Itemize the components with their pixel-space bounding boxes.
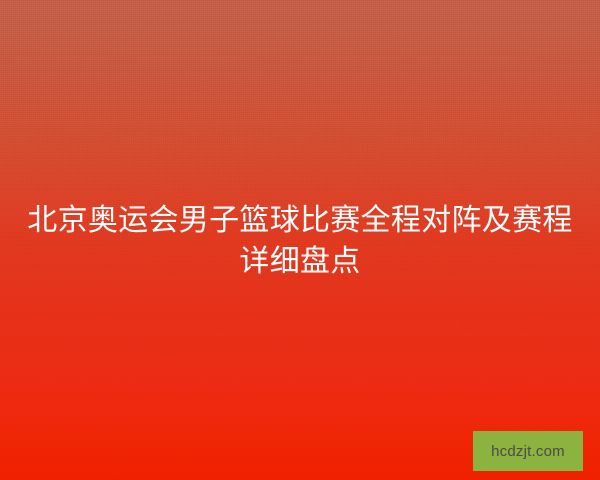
page-title-line-2: 详细盘点 bbox=[22, 241, 578, 282]
site-watermark-label: hcdzjt.com bbox=[491, 444, 565, 459]
page-title: 北京奥运会男子篮球比赛全程对阵及赛程 详细盘点 bbox=[0, 200, 600, 282]
site-watermark-badge[interactable]: hcdzjt.com bbox=[473, 431, 583, 471]
poster-canvas: 北京奥运会男子篮球比赛全程对阵及赛程 详细盘点 hcdzjt.com bbox=[0, 0, 600, 480]
page-title-line-1: 北京奥运会男子篮球比赛全程对阵及赛程 bbox=[22, 200, 578, 241]
